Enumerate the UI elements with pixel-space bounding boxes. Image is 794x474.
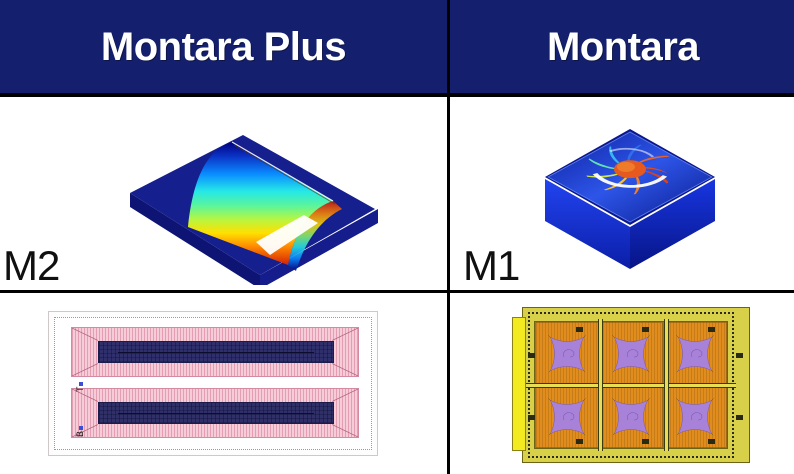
cad-array-cell: [599, 322, 663, 385]
cad-star-region: [612, 335, 650, 373]
cad-star-region: [612, 398, 650, 436]
cad-bar-top-centerline: [118, 352, 315, 353]
cad-contact-pad: [576, 439, 583, 444]
cad-star-region: [548, 398, 586, 436]
cad-layout-mirror-array: [512, 307, 750, 463]
header-title-montara: Montara: [547, 27, 699, 67]
cad-contact-pad: [528, 353, 535, 358]
cad-array-cell: [535, 385, 599, 448]
fem-plot-m2: [80, 105, 410, 285]
cad-bar-bottom-centerline: [118, 413, 315, 414]
cad-bus-vertical-right: [664, 319, 669, 451]
cell-layout-montara-plus: T B: [0, 293, 447, 474]
cad-pad-strip: [512, 317, 526, 451]
header-band: Montara Plus Montara: [0, 0, 794, 93]
cad-bus-vertical-left: [598, 319, 603, 451]
header-cell-montara: Montara: [452, 0, 794, 93]
cad-contact-pad: [736, 353, 743, 358]
column-divider-header: [447, 0, 450, 93]
cad-star-region: [548, 335, 586, 373]
cad-contact-pad: [576, 327, 583, 332]
header-cell-montara-plus: Montara Plus: [0, 0, 447, 93]
cad-array-cell: [599, 385, 663, 448]
cad-bar-bottom: [98, 402, 334, 424]
cell-layout-montara: [450, 293, 794, 474]
comparison-figure: Montara Plus Montara: [0, 0, 794, 474]
mode-label-m1: M1: [463, 245, 519, 287]
cad-contact-pad: [736, 415, 743, 420]
cad-contact-pad: [642, 327, 649, 332]
cad-side-label-top: T: [75, 387, 85, 393]
cad-array-cell: [663, 322, 727, 385]
cad-marker-bottom: [79, 426, 83, 430]
cad-bar-top: [98, 341, 334, 363]
cad-side-label-bottom: B: [75, 431, 85, 437]
cad-layout-two-bar: T B: [48, 311, 378, 456]
cad-contact-pad: [528, 415, 535, 420]
cad-array-cell: [535, 322, 599, 385]
cell-simulation-montara: M1: [450, 97, 794, 290]
cad-star-region: [676, 398, 714, 436]
cad-contact-pad: [642, 439, 649, 444]
mode-label-m2: M2: [3, 245, 59, 287]
fem-plot-m1: [515, 107, 745, 282]
cad-block-bottom: [71, 388, 359, 438]
cad-contact-pad: [708, 439, 715, 444]
cad-bus-horizontal: [526, 383, 736, 388]
cell-simulation-montara-plus: M2: [0, 97, 447, 290]
header-title-montara-plus: Montara Plus: [101, 27, 346, 67]
cad-block-top: [71, 327, 359, 377]
cad-layout-frame: [54, 317, 372, 450]
cad-array-cell: [663, 385, 727, 448]
cad-contact-pad: [708, 327, 715, 332]
cad-star-region: [676, 335, 714, 373]
